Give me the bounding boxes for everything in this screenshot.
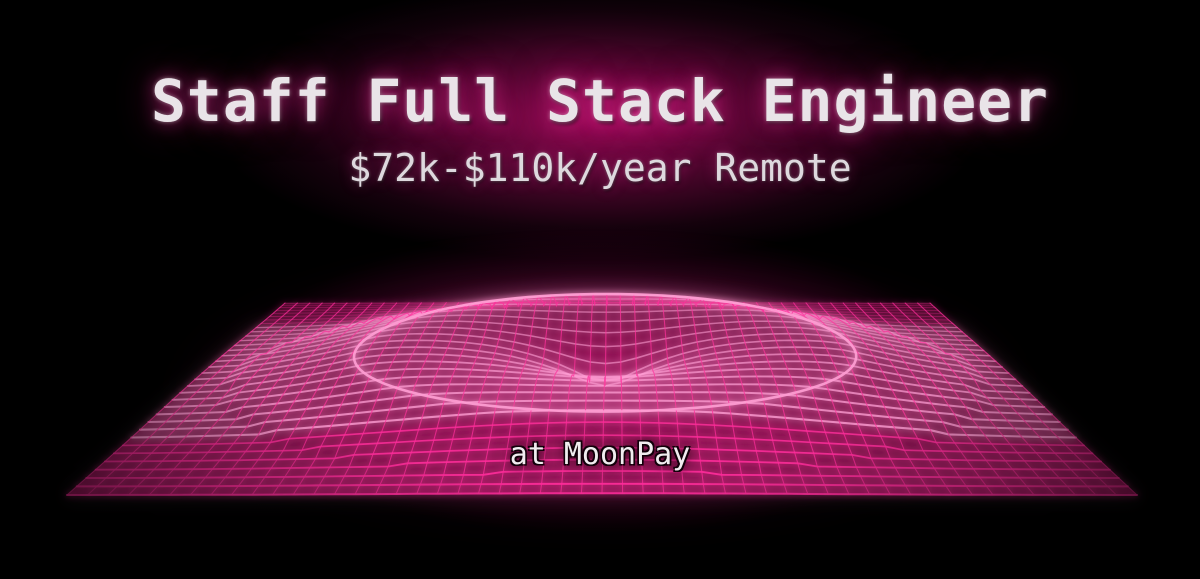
company-label: at MoonPay [0, 437, 1200, 472]
job-card: Staff Full Stack Engineer $72k-$110k/yea… [0, 0, 1200, 579]
salary-and-location: $72k-$110k/year Remote [0, 146, 1200, 190]
mesh-glow [10, 225, 1190, 555]
background-glow-mid [50, 150, 1150, 570]
page-title: Staff Full Stack Engineer [0, 67, 1200, 135]
